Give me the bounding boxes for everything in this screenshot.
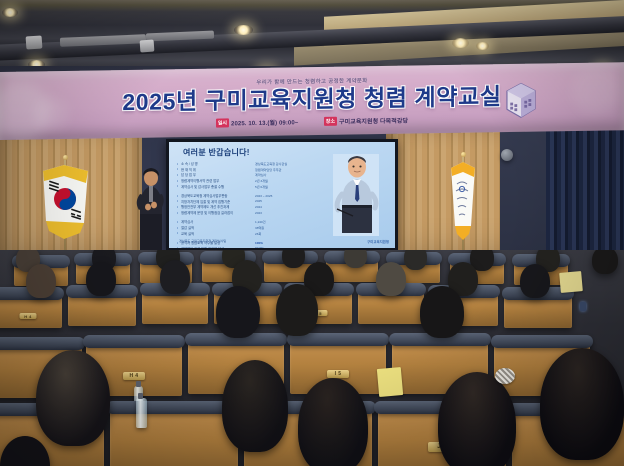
audience-head-foreground — [540, 348, 624, 460]
slide-person-photo — [333, 154, 379, 236]
slide-row-value: 2년 3개월 — [255, 178, 309, 183]
auditorium-photo: 구미교육지원청 우리가 함께 만드는 청렴하고 공정한 계약문화 2025년 구… — [0, 0, 624, 466]
slide-row: •교육 실적26회 — [177, 231, 309, 236]
slide-row-value: 경상북도교육청 감사관실 — [255, 161, 309, 166]
slide-row-label: 행정안전부 계약제도 개선 추진과제 — [181, 204, 255, 209]
slide-row-label: 교육 실적 — [181, 231, 255, 236]
slide-row: •계약업무 관련 민원 처리율 달성99.8% — [177, 246, 309, 248]
projector-mount-right — [140, 40, 155, 53]
slide-row: •절감 실적38억원 — [177, 225, 309, 230]
slide-row-value: 26회 — [255, 231, 309, 236]
presenter-speaking — [133, 168, 167, 252]
slide-row: •계약심사1,240건 — [177, 219, 309, 224]
audience-head — [160, 260, 190, 294]
seat-row-mid — [504, 294, 572, 328]
slide-row: •경상북도교육청 계약심사업무편람2023 ~ 2025 — [177, 193, 309, 198]
slide-row-value: 2024 — [255, 205, 309, 209]
slide-row-label: 소 속 / 성 명 — [181, 161, 255, 166]
audience-head — [26, 264, 56, 298]
audience-head — [344, 250, 367, 268]
banner-place-tag: 장소 — [324, 117, 337, 126]
audience-head-foreground — [222, 360, 288, 452]
recessed-downlight — [2, 8, 18, 17]
wall-speaker — [501, 149, 513, 161]
slide-row-label: 계약업무 관련 민원 처리율 달성 — [181, 246, 255, 248]
audience-head-foreground — [298, 378, 368, 466]
slide-row: •지방자치단체 입찰 및 계약 집행기준2025 — [177, 199, 309, 204]
audience-head — [404, 250, 427, 270]
slide-row-value: 100% — [255, 241, 309, 245]
audience-head-foreground — [36, 350, 110, 446]
slide-row-spacer — [177, 216, 309, 219]
water-bottle — [136, 398, 147, 428]
slide-row-label: 계약심사 — [181, 219, 255, 224]
audience-head — [86, 262, 116, 296]
slide-title: 여러분 반갑습니다! — [183, 147, 250, 158]
slide-row-label: 현 재 직 위 — [181, 167, 255, 172]
seat-row-mid — [68, 292, 136, 326]
projector-mount-left — [26, 35, 43, 49]
slide-row-value: 계약심사 — [255, 172, 309, 177]
slide-row-value: 2025 — [255, 199, 309, 203]
seat-row-mid — [142, 290, 208, 324]
audience-head — [282, 250, 305, 268]
slide-row-spacer — [177, 189, 309, 192]
slide-row-label: 청렴계약제 운영 및 이행점검 길라잡이 — [181, 210, 255, 215]
slide-row-label: 담 당 업 무 — [181, 172, 255, 177]
audience-head-foreground — [438, 372, 516, 466]
slide-row: •계약심사 및 감사업무 총괄 수행5년 6개월 — [177, 184, 309, 189]
hair-scrunchie — [495, 368, 515, 384]
slide-row: •담 당 업 무계약심사 — [177, 172, 309, 177]
slide-row: •청렴계약이행서약 관련 업무2년 3개월 — [177, 178, 309, 183]
slide-row-label: 경상북도교육청 계약심사업무편람 — [181, 193, 255, 198]
slide-row: •현 재 직 위청렴계약담당 주무관 — [177, 167, 309, 172]
slide-row-value: 99.8% — [255, 246, 309, 248]
institution-flag — [441, 160, 485, 246]
smartphone — [580, 302, 586, 311]
audience-head — [420, 286, 464, 338]
seat-row-front — [110, 408, 238, 466]
audience-head — [520, 264, 550, 298]
seat-number-plate: I 5 — [327, 370, 349, 378]
slide-row-label: 지방자치단체 입찰 및 계약 집행기준 — [181, 199, 255, 204]
seat-number-plate: H 4 — [123, 372, 145, 380]
banner-place-text: 구미교육지원청 다목적강당 — [339, 116, 408, 126]
slide-content: 여러분 반갑습니다! •소 속 / 성 명경상북도교육청 감사관실•현 재 직 … — [169, 142, 395, 248]
audience-seating-area: H 4 I 5 H 4 I 5 — [0, 250, 624, 466]
projection-screen: 여러분 반갑습니다! •소 속 / 성 명경상북도교육청 감사관실•현 재 직 … — [166, 139, 398, 251]
slide-row-label: 절감 실적 — [181, 225, 255, 230]
slide-row-value: 2023 — [255, 211, 309, 215]
audience-head — [592, 250, 618, 274]
slide-row: •소 속 / 성 명경상북도교육청 감사관실 — [177, 161, 309, 166]
slide-row-value: 1,240건 — [255, 219, 309, 224]
slide-row: •행정안전부 계약제도 개선 추진과제2024 — [177, 204, 309, 209]
banner-date-tag: 일시 — [216, 118, 229, 127]
slide-row: •청렴계약제 운영 및 이행점검 길라잡이2023 — [177, 210, 309, 215]
slide-row-label: 청렴계약이행서약 관련 업무 — [181, 178, 255, 183]
hexagon-cube-emblem — [504, 82, 538, 121]
handout-paper — [559, 271, 583, 293]
slide-footer: 경상북도 구미교육지원청 계약심사팀 — [179, 238, 226, 243]
korean-national-flag — [40, 163, 90, 243]
slide-row-list: •소 속 / 성 명경상북도교육청 감사관실•현 재 직 위청렴계약담당 주무관… — [177, 161, 309, 248]
audience-head — [216, 286, 260, 338]
handout-paper — [377, 367, 403, 397]
seat-number-plate: H 4 — [20, 313, 37, 319]
recessed-downlight — [452, 38, 469, 48]
event-banner: 우리가 함께 만드는 청렴하고 공정한 계약문화 2025년 구미교육지원청 청… — [0, 62, 624, 140]
recessed-downlight — [476, 42, 489, 50]
slide-row-value: 38억원 — [255, 225, 309, 230]
slide-logo: 구미교육지원청 — [367, 239, 389, 244]
slide-row-value: 2023 ~ 2025 — [255, 194, 309, 198]
audience-head — [276, 284, 318, 336]
audience-head — [376, 262, 406, 296]
banner-date-text: 2025. 10. 13.(월) 09:00~ — [231, 117, 298, 127]
slide-row-value: 청렴계약담당 주무관 — [255, 167, 309, 172]
slide-row-label: 계약심사 및 감사업무 총괄 수행 — [181, 184, 255, 189]
recessed-downlight — [234, 25, 253, 35]
slide-row-value: 5년 6개월 — [255, 184, 309, 189]
seat-row-mid: H 4 — [0, 294, 62, 328]
